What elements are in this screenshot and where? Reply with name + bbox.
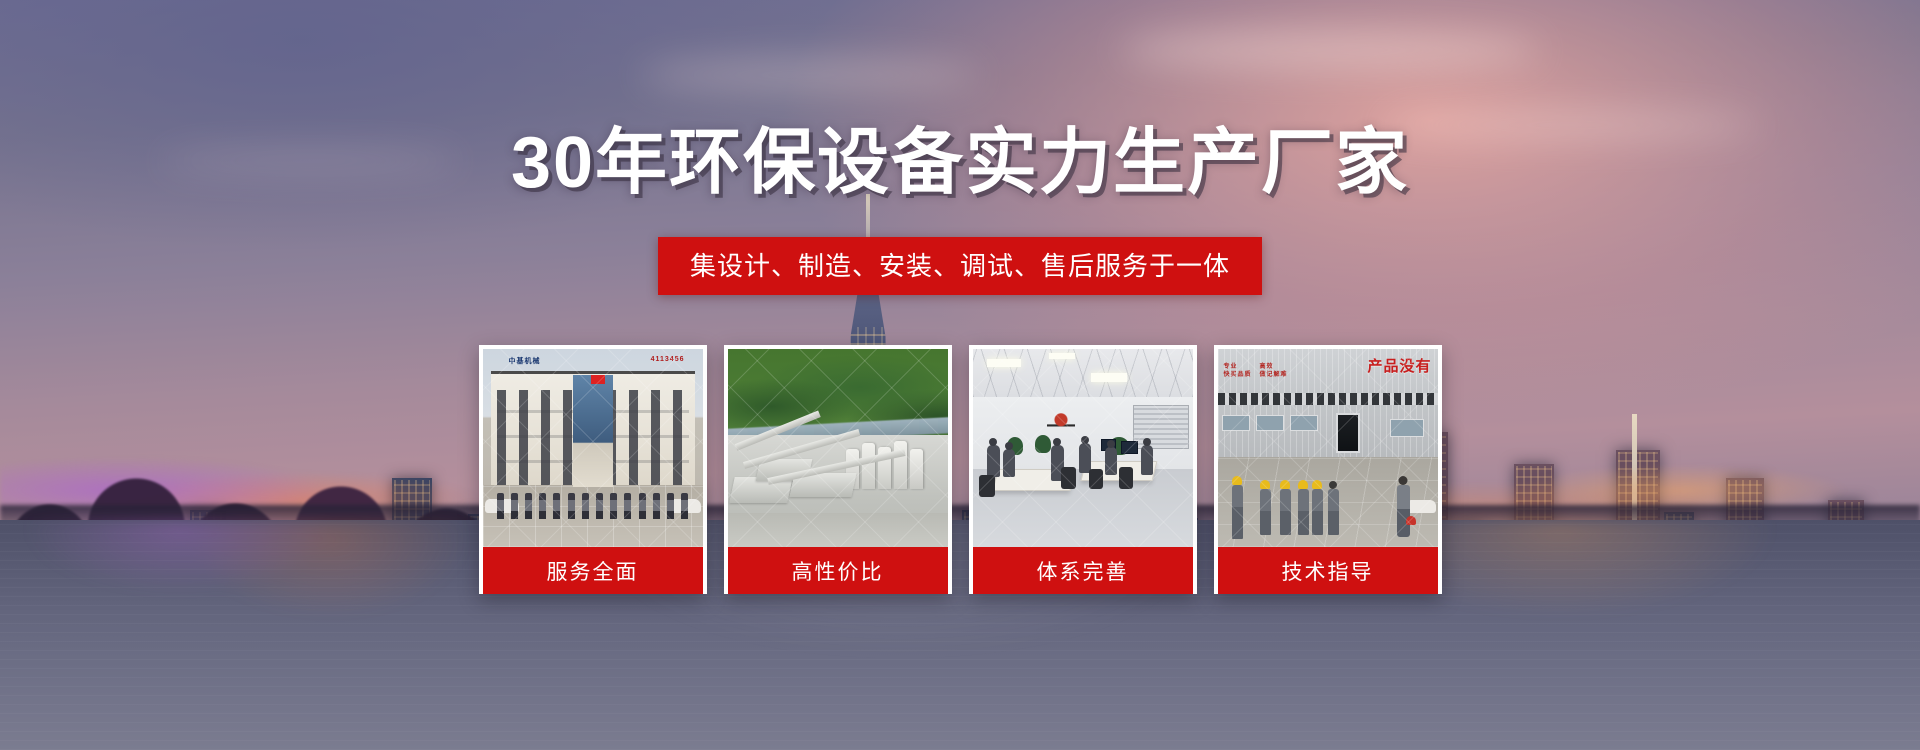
factory-slogan-text: 专业 快买品质 xyxy=(1224,363,1252,379)
slogan-line-4: 做记解难 xyxy=(1260,372,1288,378)
subtitle-banner: 集设计、制造、安装、调试、售后服务于一体 xyxy=(658,237,1262,295)
supervisor-figure xyxy=(1397,485,1410,537)
factory-slogan-text-2: 高效 做记解难 xyxy=(1260,363,1288,379)
cloud-wisp xyxy=(1120,30,1540,70)
factory-banner-text: 产品没有 xyxy=(1367,355,1431,376)
card-caption: 体系完善 xyxy=(973,547,1193,594)
card-photo-office xyxy=(973,349,1193,547)
cloud-wisp xyxy=(640,58,980,92)
card-caption: 高性价比 xyxy=(728,547,948,594)
subtitle-banner-wrap: 集设计、制造、安装、调试、售后服务于一体 xyxy=(0,237,1920,295)
window-blinds xyxy=(1133,405,1189,449)
slogan-line-2: 快买品质 xyxy=(1224,372,1252,378)
card-caption: 技术指导 xyxy=(1218,547,1438,594)
red-helmet-icon xyxy=(1406,516,1416,525)
hero-banner: 30年环保设备实力生产厂家 集设计、制造、安装、调试、售后服务于一体 中基机械 … xyxy=(0,0,1920,750)
building-sign-text: 中基机械 xyxy=(509,356,541,366)
wall-logo xyxy=(1047,411,1075,433)
feature-card[interactable]: 体系完善 xyxy=(969,345,1197,594)
factory-door xyxy=(1336,413,1360,453)
feature-card[interactable]: 产品没有 专业 快买品质 高效 做记解难 xyxy=(1214,345,1442,594)
staff-row xyxy=(497,489,689,519)
slogan-line-3: 高效 xyxy=(1260,364,1274,370)
feature-card-list: 中基机械 4113456 服务全面 xyxy=(0,345,1920,594)
card-photo-factory-yard: 产品没有 专业 快买品质 高效 做记解难 xyxy=(1218,349,1438,547)
feature-card[interactable]: 中基机械 4113456 服务全面 xyxy=(479,345,707,594)
building-phone-number: 4113456 xyxy=(651,356,685,363)
card-caption: 服务全面 xyxy=(483,547,703,594)
card-photo-aerial-plant xyxy=(728,349,948,547)
flag-icon xyxy=(591,375,605,384)
feature-card[interactable]: 高性价比 xyxy=(724,345,952,594)
slogan-line-1: 专业 xyxy=(1224,364,1238,370)
page-title: 30年环保设备实力生产厂家 xyxy=(0,103,1920,208)
card-photo-headquarters: 中基机械 4113456 xyxy=(483,349,703,547)
